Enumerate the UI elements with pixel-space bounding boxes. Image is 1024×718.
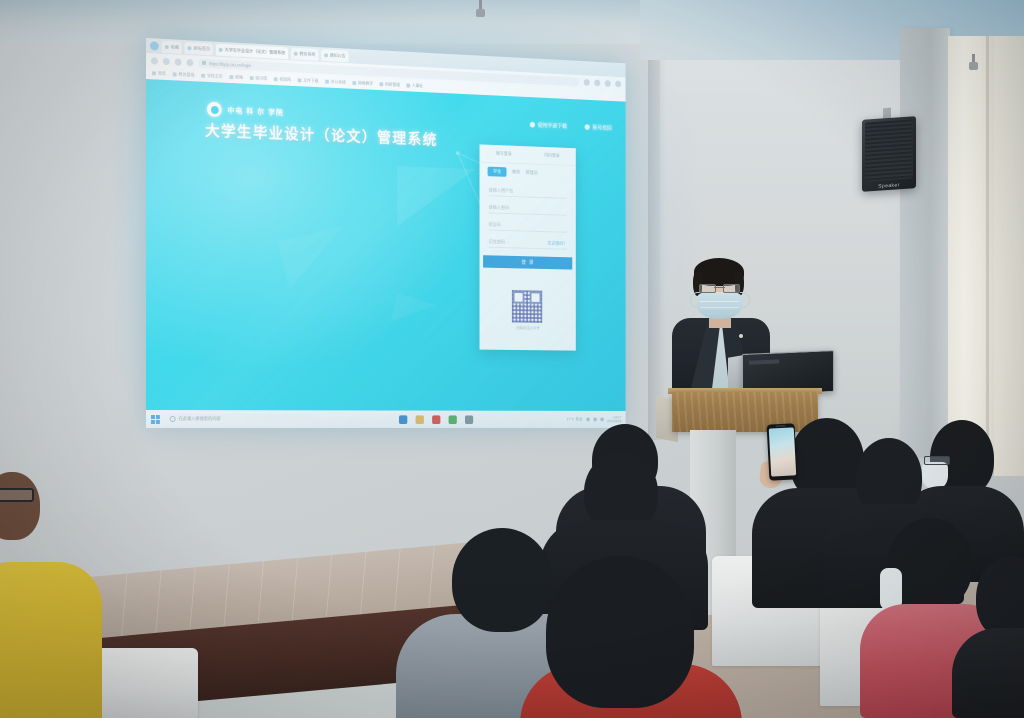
reload-icon[interactable] [175, 58, 182, 65]
system-tray: 17°C 多云 14:27 2021/5/28 [567, 415, 622, 423]
role-tab-admin[interactable]: 管理员 [526, 169, 538, 175]
presenter-glasses [699, 284, 740, 291]
browser-window: 收藏 新标签页 大学生毕业设计（论文）管理系统 教务系统 [146, 38, 626, 428]
captcha-field[interactable]: 验证码 [489, 219, 567, 233]
audience-head [452, 528, 552, 632]
bookmark-label: 常用 [158, 71, 166, 77]
bookmark-icon [152, 71, 156, 75]
favicon-icon [165, 44, 169, 48]
captcha-placeholder: 验证码 [489, 221, 501, 227]
sprinkler-head-icon-2 [968, 54, 979, 74]
audience-glasses [924, 456, 950, 465]
bookmark-icon [325, 80, 329, 84]
right-wall-column [900, 28, 950, 458]
presenter-face-mask [697, 292, 742, 319]
user-icon [585, 124, 590, 130]
presenter-badge [739, 334, 743, 338]
bookmark-2[interactable]: 学校主页 [201, 73, 222, 80]
browser-tab-4[interactable]: 通知公告 [321, 49, 348, 62]
bookmark-label: 邮箱 [235, 74, 243, 80]
menu-icon[interactable] [615, 80, 621, 87]
back-icon[interactable] [151, 57, 158, 64]
school-name: 中电 科 尔 学院 [227, 105, 283, 117]
login-mode-account[interactable]: 账号登录 [496, 151, 512, 157]
battery-icon[interactable] [600, 417, 603, 421]
bookmark-icon [250, 76, 254, 80]
bookmark-label: 学校主页 [207, 73, 223, 80]
browser-tab-0[interactable]: 收藏 [162, 40, 182, 53]
bookmark-label: 办公系统 [331, 79, 346, 86]
username-field[interactable]: 请输入用户名 [489, 185, 567, 199]
bookmark-icon [201, 74, 205, 78]
lock-icon [202, 61, 206, 65]
qr-caption: 扫码关注公众号 [498, 326, 559, 332]
bookmark-3[interactable]: 邮箱 [229, 74, 243, 81]
nav-label: 账号找回 [592, 124, 611, 132]
username-placeholder: 请输入用户名 [489, 187, 514, 194]
bookmark-icon [173, 72, 177, 76]
tab-label: 新标签页 [194, 45, 210, 52]
tab-label: 大学生毕业设计（论文）管理系统 [225, 47, 286, 56]
bookmark-4[interactable]: 图书馆 [250, 75, 267, 82]
role-tab-student[interactable]: 学生 [488, 166, 507, 176]
bookmark-6[interactable]: 文件下载 [298, 77, 319, 84]
bookmark-icon [352, 81, 356, 85]
bookmark-label: 教务管理 [179, 72, 195, 79]
nav-manual-download[interactable]: 使用手册下载 [530, 121, 567, 130]
bookmark-label: 校园网 [280, 76, 291, 82]
bookmark-icon [406, 84, 410, 88]
bookmark-icon [274, 77, 278, 81]
search-placeholder: 在此输入要搜索的内容 [179, 416, 221, 422]
tab-label: 通知公告 [330, 52, 346, 59]
forward-icon[interactable] [163, 57, 170, 64]
bookmark-label: 文件下载 [303, 78, 318, 85]
bookmark-icon [298, 78, 302, 82]
podium [672, 392, 818, 432]
forgot-password-link[interactable]: 忘记密码？ [548, 240, 567, 246]
weather-label[interactable]: 17°C 多云 [567, 417, 583, 423]
bookmark-5[interactable]: 校园网 [274, 76, 291, 83]
edge-icon[interactable] [399, 415, 407, 424]
browser-tab-1[interactable]: 新标签页 [185, 42, 213, 55]
tab-label: 收藏 [171, 44, 179, 50]
favicon-icon [188, 46, 192, 50]
bookmark-8[interactable]: 网络教学 [352, 80, 373, 87]
bookmark-10[interactable]: 人事处 [406, 83, 423, 90]
wall-speaker: Speaker [862, 116, 916, 192]
sprinkler-head-icon [474, 0, 486, 22]
extensions-icon[interactable] [594, 79, 600, 86]
login-mode-qr[interactable]: 扫码登录 [544, 153, 560, 159]
chrome-icon[interactable] [449, 415, 457, 424]
download-icon [530, 122, 535, 128]
window-mullion [986, 36, 989, 466]
taskbar-search-input[interactable]: 在此输入要搜索的内容 [166, 414, 311, 425]
role-tabs: 学生 教师 管理员 [479, 163, 575, 181]
smartphone[interactable] [767, 423, 798, 480]
bookmark-label: 人事处 [412, 83, 423, 89]
start-button-icon[interactable] [151, 415, 160, 424]
login-page: 中电 科 尔 学院 大学生毕业设计（论文）管理系统 使用手册下载 账号找回 [146, 79, 626, 411]
wall-corner-shadow [648, 20, 666, 440]
clock-date: 2021/5/28 [607, 419, 621, 423]
bookmark-label: 网络教学 [358, 80, 373, 87]
wps-icon[interactable] [432, 415, 440, 424]
nav-account-recovery[interactable]: 账号找回 [585, 123, 612, 132]
profile-icon[interactable] [605, 80, 611, 87]
favicon-icon [294, 51, 298, 55]
taskbar-clock[interactable]: 14:27 2021/5/28 [607, 415, 621, 423]
bookmark-1[interactable]: 教务管理 [173, 71, 195, 78]
bookmark-icon [229, 75, 233, 79]
audience-head [546, 556, 694, 708]
projection-screen: 收藏 新标签页 大学生毕业设计（论文）管理系统 教务系统 [146, 38, 626, 428]
bookmark-9[interactable]: 科研管理 [380, 81, 400, 88]
favicon-icon [219, 47, 223, 51]
browser-logo-icon [150, 41, 159, 50]
remember-label: 记住密码 [489, 239, 506, 245]
folder-icon[interactable] [416, 415, 424, 424]
password-placeholder: 请输入密码 [489, 204, 510, 210]
bookmark-label: 科研管理 [385, 82, 400, 89]
school-logo-icon [207, 102, 222, 117]
search-icon [170, 416, 176, 422]
role-tab-teacher[interactable]: 教师 [512, 169, 520, 175]
link-icon[interactable] [465, 415, 473, 424]
remember-row[interactable]: 记住密码 忘记密码？ [489, 236, 567, 249]
presentation-room-photo: Speaker 收藏 新标签页 [0, 0, 1024, 718]
password-field[interactable]: 请输入密码 [489, 202, 567, 216]
windows-taskbar: 在此输入要搜索的内容 17°C 多云 [146, 410, 626, 428]
login-card-header: 账号登录 扫码登录 [479, 144, 575, 166]
volume-icon[interactable] [593, 417, 596, 421]
nav-label: 使用手册下载 [538, 121, 567, 130]
browser-tab-3[interactable]: 教务系统 [291, 47, 318, 60]
bookmark-label: 图书馆 [256, 75, 268, 81]
star-icon[interactable] [584, 79, 590, 86]
login-card: 账号登录 扫码登录 学生 教师 管理员 请输入用户名 请输入密码 [479, 144, 575, 350]
page-top-nav: 使用手册下载 账号找回 [530, 121, 612, 132]
audience-shoulders [0, 562, 102, 718]
home-icon[interactable] [186, 59, 193, 66]
login-button[interactable]: 登 录 [483, 255, 572, 269]
bookmark-7[interactable]: 办公系统 [325, 79, 346, 86]
bookmark-0[interactable]: 常用 [152, 70, 166, 77]
qr-code-icon [512, 290, 542, 323]
bookmark-icon [380, 82, 384, 86]
speaker-grille [865, 119, 913, 181]
favicon-icon [324, 53, 328, 57]
network-icon[interactable] [586, 417, 590, 421]
tab-label: 教务系统 [300, 51, 316, 58]
audience-glasses [0, 488, 34, 502]
phone-screen [768, 427, 795, 476]
window-light-outer [994, 36, 1024, 476]
address-text: https://bysj.czu.cn/login [209, 61, 251, 68]
taskbar-apps [399, 415, 473, 424]
